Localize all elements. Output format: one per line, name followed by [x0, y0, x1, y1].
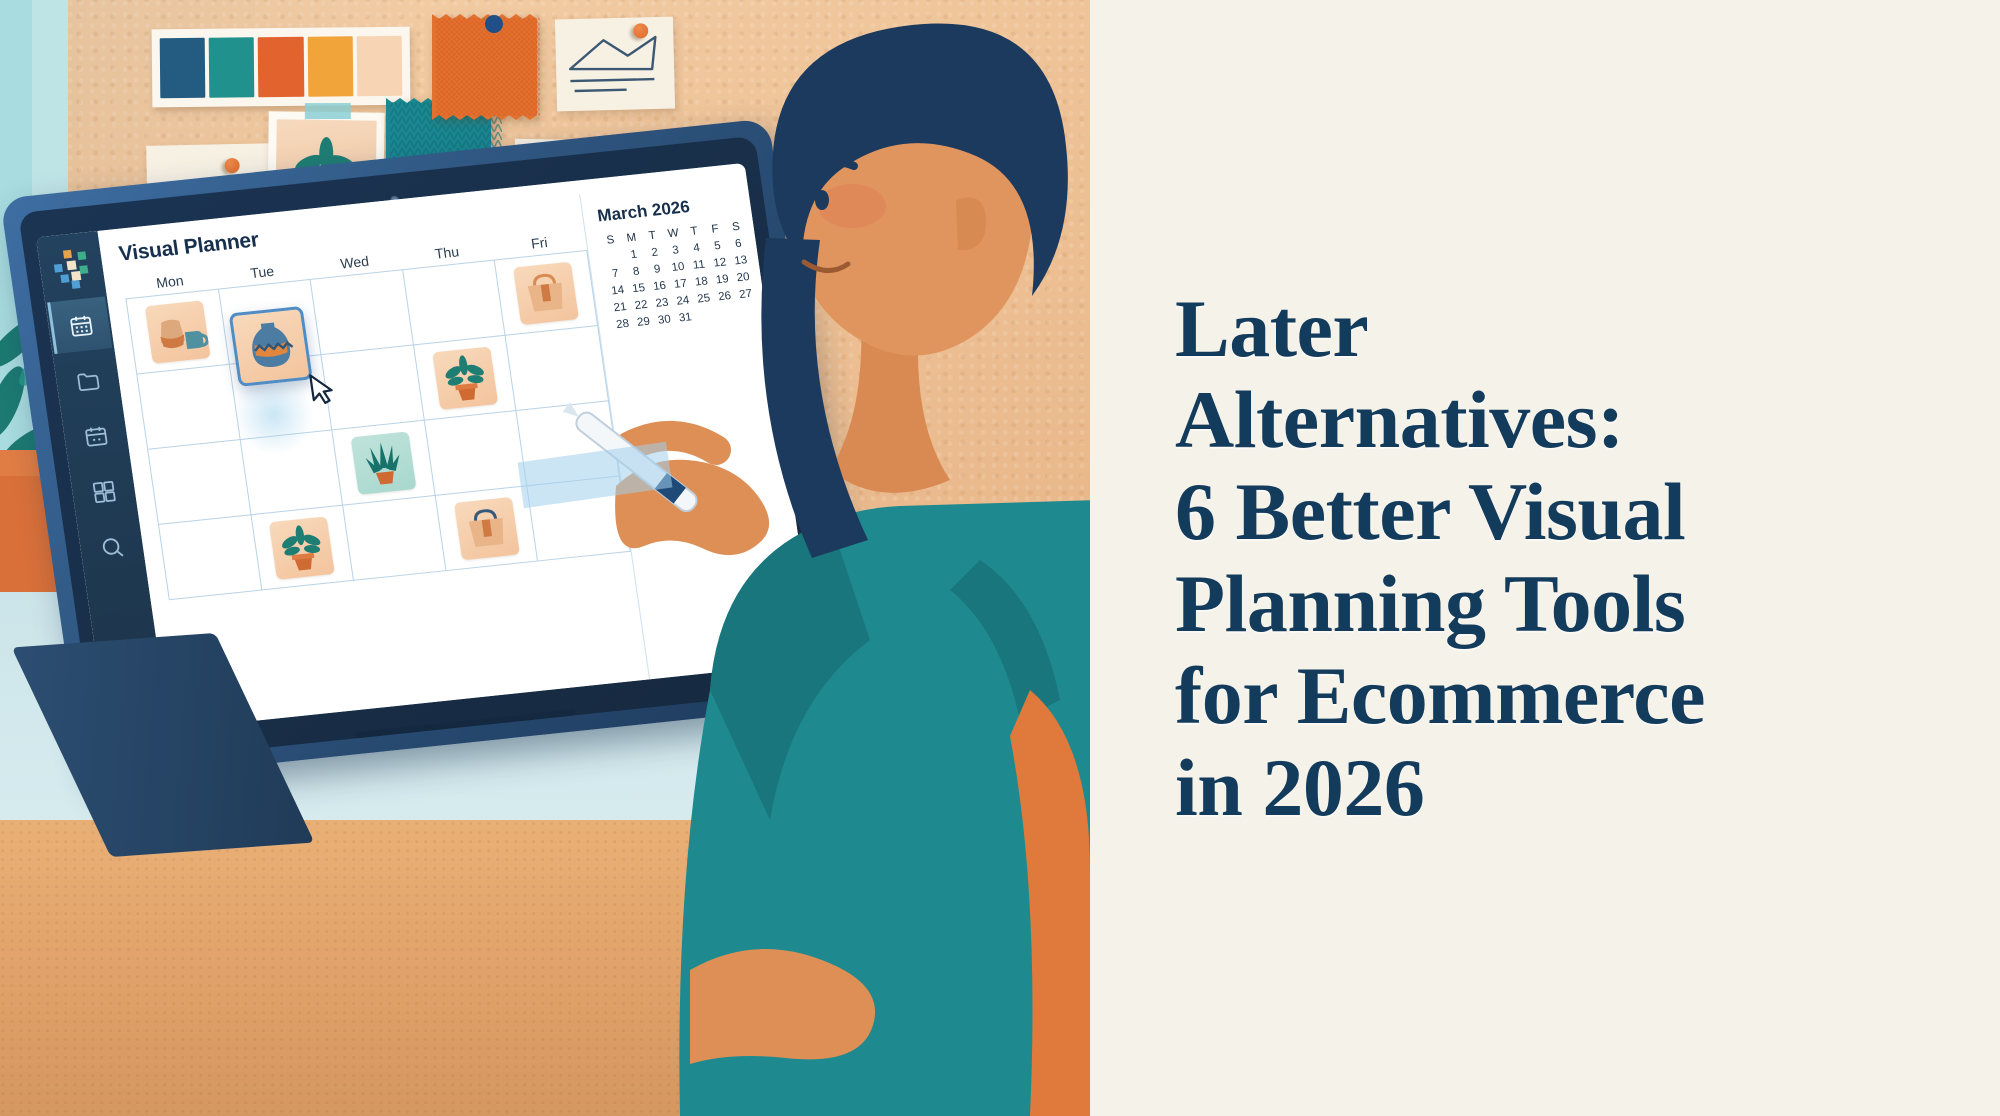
- planner-cell[interactable]: [322, 345, 425, 430]
- sidebar-item-board[interactable]: [71, 463, 136, 521]
- person-illustration: [560, 0, 1090, 1116]
- swatch-orange: [258, 37, 304, 97]
- grid-layout-icon: [89, 478, 117, 505]
- tote-bag-thumb-2[interactable]: [453, 496, 519, 559]
- planner-cell[interactable]: [159, 515, 262, 600]
- washi-tape: [305, 103, 351, 119]
- swatch-navy: [160, 38, 206, 98]
- calendar-icon: [67, 311, 95, 338]
- headline-panel: Later Alternatives: 6 Better Visual Plan…: [1090, 0, 2000, 1116]
- color-palette-card: [152, 27, 411, 108]
- search-icon: [97, 533, 125, 560]
- page-headline: Later Alternatives: 6 Better Visual Plan…: [1175, 283, 1705, 834]
- planner-cell[interactable]: [403, 261, 506, 346]
- planner-cell[interactable]: [251, 506, 354, 591]
- sidebar-item-calendar[interactable]: [47, 296, 112, 354]
- aloe-plant-thumb[interactable]: [350, 431, 416, 494]
- drop-target-highlight: [229, 378, 319, 460]
- swatch-peach: [356, 36, 402, 96]
- planner-cell[interactable]: [311, 270, 414, 355]
- calendar-event-icon: [81, 422, 109, 449]
- swatch-amber: [307, 36, 353, 96]
- headline-line-5: for Ecommerce: [1175, 650, 1705, 742]
- planner-cell[interactable]: [148, 440, 251, 525]
- planner-cell[interactable]: [127, 290, 230, 375]
- potted-plant-thumb[interactable]: [432, 346, 498, 409]
- headline-line-6: in 2026: [1175, 742, 1705, 834]
- pitcher-and-mug-thumb[interactable]: [144, 300, 210, 363]
- illustration-panel: Visual Planner Mon Tue Wed Thu Fri: [0, 0, 1090, 1116]
- orange-fabric-swatch: [428, 8, 548, 128]
- headline-line-2: Alternatives:: [1175, 374, 1705, 466]
- planner-cell[interactable]: [137, 365, 240, 450]
- blog-hero-banner: Visual Planner Mon Tue Wed Thu Fri: [0, 0, 2000, 1116]
- headline-line-3: 6 Better Visual: [1175, 466, 1705, 558]
- app-logo-mark[interactable]: [45, 242, 97, 292]
- potted-plant-thumb-2[interactable]: [269, 516, 335, 579]
- arrow-cursor: [308, 371, 339, 407]
- planner-cell[interactable]: [343, 496, 446, 581]
- patterned-vase-thumb: [235, 312, 306, 380]
- sidebar-item-library[interactable]: [55, 352, 120, 410]
- dragged-card-patterned-vase[interactable]: [229, 306, 313, 387]
- headline-line-4: Planning Tools: [1175, 558, 1705, 650]
- swatch-teal: [209, 37, 255, 97]
- planner-cell[interactable]: [425, 411, 528, 496]
- planner-cell[interactable]: [414, 336, 517, 421]
- folder-icon: [74, 367, 102, 394]
- sidebar-item-schedule[interactable]: [63, 407, 128, 465]
- sidebar-item-search[interactable]: [79, 518, 144, 576]
- planner-cell[interactable]: [333, 421, 436, 506]
- headline-line-1: Later: [1175, 283, 1705, 375]
